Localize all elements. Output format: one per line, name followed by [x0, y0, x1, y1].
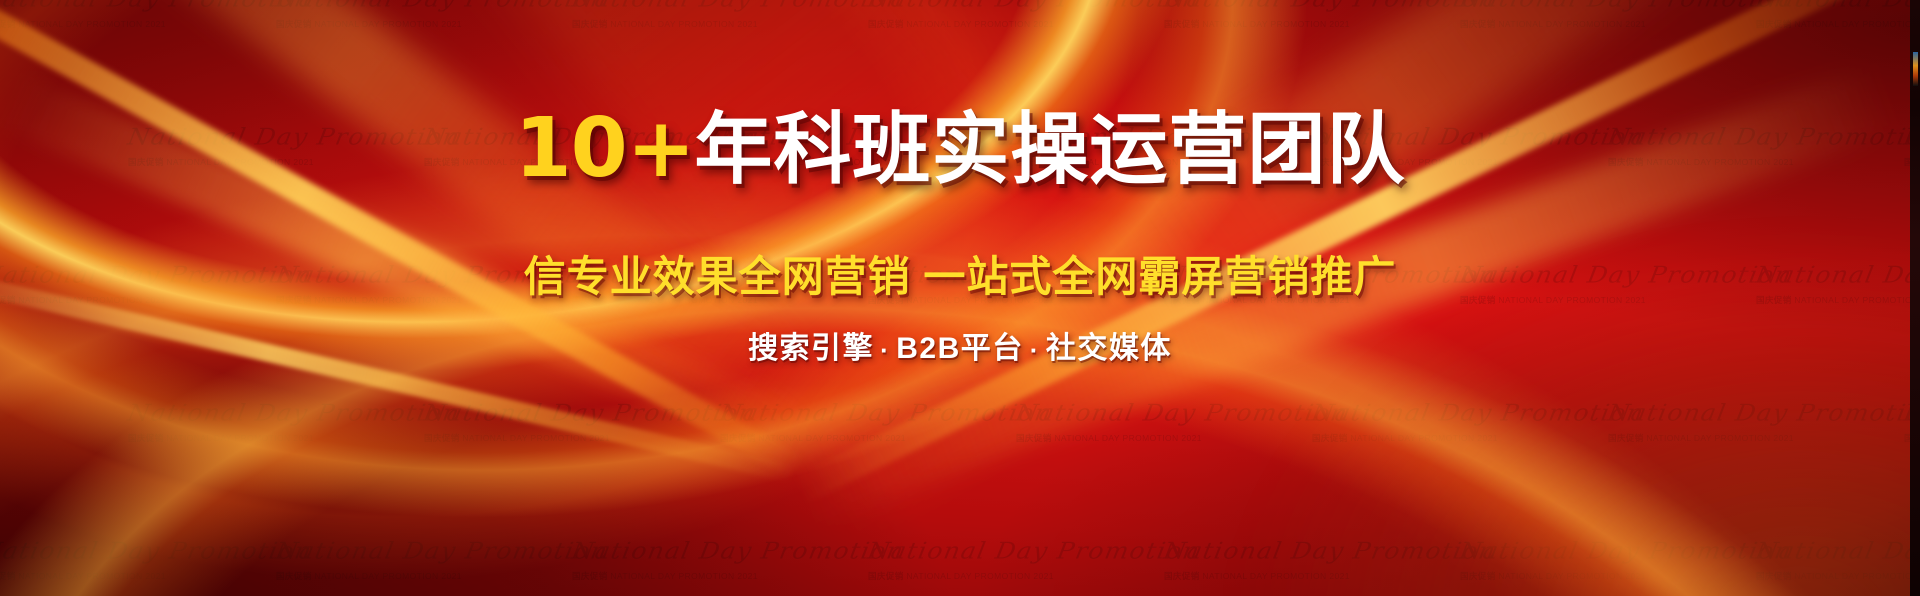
tagline-item-social-media: 社交媒体 [1046, 332, 1172, 365]
tagline-item-search-engine: 搜索引擎 [748, 332, 874, 365]
tagline-item-b2b-platform: B2B平台 [896, 332, 1024, 365]
promo-banner: National Day Promotion国庆促销 NATIONAL DAY … [0, 0, 1920, 596]
tagline: 搜索引擎·B2B平台·社交媒体 [0, 323, 1920, 367]
edge-color-artifact [1913, 52, 1918, 86]
right-edge-strip [1910, 0, 1920, 596]
headline-words: 年科班实操运营团队 [694, 105, 1405, 193]
headline: 10+年科班实操运营团队 [0, 108, 1920, 190]
banner-content: 10+年科班实操运营团队 信专业效果全网营销 一站式全网霸屏营销推广 搜索引擎·… [0, 0, 1920, 596]
tagline-separator-2: · [1024, 335, 1046, 366]
headline-number: 10+ [515, 101, 695, 196]
subheadline: 信专业效果全网营销 一站式全网霸屏营销推广 [0, 243, 1920, 304]
tagline-separator-1: · [874, 335, 896, 366]
